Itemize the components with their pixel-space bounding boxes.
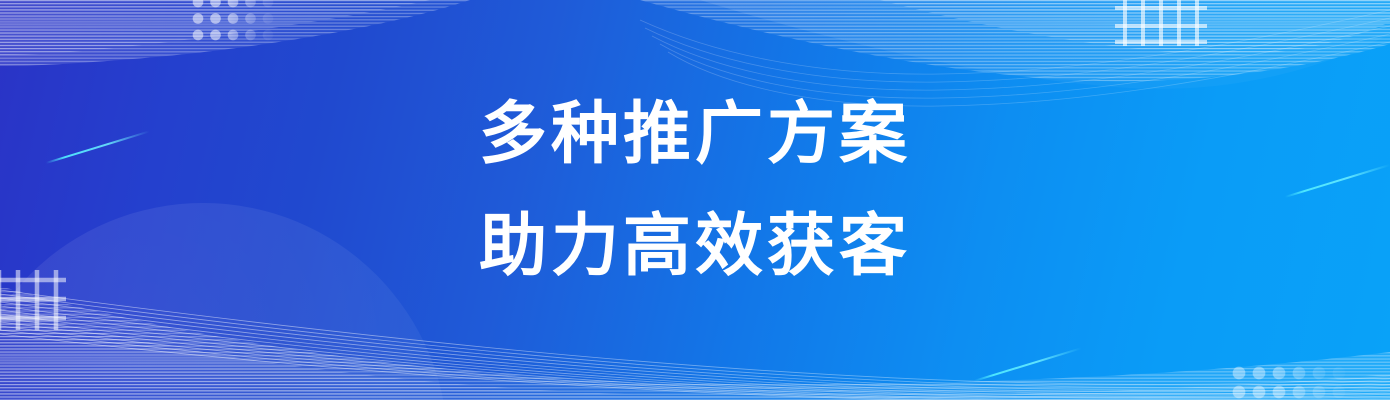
headline-line-1: 多种推广方案: [0, 78, 1390, 190]
dot-grid-icon-bottom-right: [1232, 366, 1352, 400]
headline-line-2: 助力高效获客: [0, 190, 1390, 302]
banner-headline: 多种推广方案 助力高效获客: [0, 78, 1390, 302]
mesh-grid-icon-top-right: [1115, 0, 1207, 46]
promo-banner: 多种推广方案 助力高效获客: [0, 0, 1390, 400]
light-streak-icon-bottom: [974, 347, 1082, 382]
dot-grid-icon-top-left: [192, 0, 278, 44]
